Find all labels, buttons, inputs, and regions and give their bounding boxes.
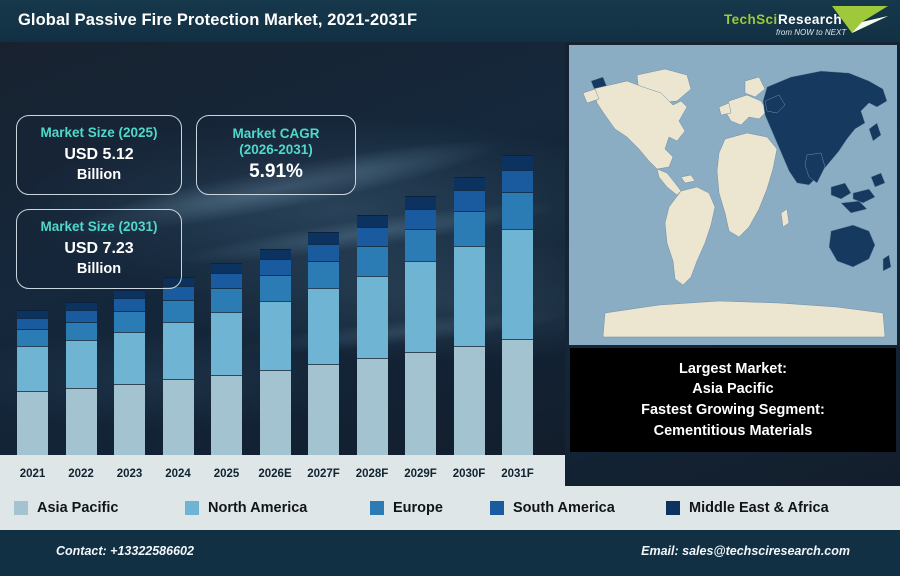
bar-segment-south-america — [502, 170, 533, 192]
bar-segment-north-america — [454, 246, 485, 346]
market-cagr-value: 5.91% — [249, 161, 303, 184]
bar-2023 — [114, 290, 145, 455]
bar-segment-south-america — [357, 227, 388, 245]
market-cagr-label: Market CAGR — [232, 126, 319, 142]
bar-segment-europe — [502, 192, 533, 229]
x-axis-labels: 202120222023202420252026E2027F2028F2029F… — [0, 455, 565, 486]
bar-segment-middle-east-africa — [357, 215, 388, 227]
bar-2028F — [357, 215, 388, 455]
bar-segment-south-america — [260, 259, 291, 275]
email-text: Email: sales@techsciresearch.com — [641, 544, 850, 558]
header-bar: Global Passive Fire Protection Market, 2… — [0, 0, 900, 42]
bar-segment-europe — [260, 275, 291, 301]
infographic-page: Global Passive Fire Protection Market, 2… — [0, 0, 900, 576]
market-size-2031-value: USD 7.23 — [64, 239, 133, 259]
bar-segment-asia-pacific — [405, 352, 436, 455]
bar-segment-north-america — [502, 229, 533, 338]
bar-segment-asia-pacific — [454, 346, 485, 455]
bar-2027F — [308, 232, 339, 455]
bar-segment-north-america — [211, 312, 242, 375]
svg-text:from NOW to NEXT: from NOW to NEXT — [776, 28, 847, 37]
bar-2022 — [66, 302, 97, 455]
right-panel: Largest Market: Asia Pacific Fastest Gro… — [565, 42, 900, 486]
bar-segment-europe — [454, 211, 485, 246]
callout-line-3: Fastest Growing Segment: — [641, 400, 825, 421]
chart-panel: 202120222023202420252026E2027F2028F2029F… — [0, 42, 565, 486]
bar-2021 — [17, 310, 48, 455]
bar-segment-europe — [211, 288, 242, 312]
bar-segment-middle-east-africa — [308, 232, 339, 243]
market-cagr-period: (2026-2031) — [239, 142, 313, 158]
bar-segment-south-america — [308, 244, 339, 261]
legend-item-north-america[interactable]: North America — [185, 500, 307, 516]
legend-swatch — [185, 501, 199, 515]
bar-2024 — [163, 277, 194, 455]
bar-segment-middle-east-africa — [454, 177, 485, 191]
bar-segment-south-america — [17, 318, 48, 329]
bar-segment-europe — [66, 322, 97, 341]
bar-segment-south-america — [454, 190, 485, 211]
market-size-2031-unit: Billion — [77, 261, 121, 278]
bar-2025 — [211, 263, 242, 455]
bar-segment-north-america — [17, 346, 48, 390]
legend-swatch — [14, 501, 28, 515]
bar-segment-asia-pacific — [502, 339, 533, 455]
bar-segment-asia-pacific — [17, 391, 48, 455]
bar-segment-middle-east-africa — [66, 302, 97, 310]
legend-label: South America — [513, 500, 615, 516]
bar-segment-europe — [17, 329, 48, 346]
bar-segment-north-america — [308, 288, 339, 364]
bar-2026E — [260, 249, 291, 455]
legend-item-middle-east-africa[interactable]: Middle East & Africa — [666, 500, 829, 516]
legend-item-asia-pacific[interactable]: Asia Pacific — [14, 500, 118, 516]
callout-line-1: Largest Market: — [679, 359, 787, 380]
legend-item-south-america[interactable]: South America — [490, 500, 615, 516]
bar-segment-middle-east-africa — [405, 196, 436, 209]
legend-label: Asia Pacific — [37, 500, 118, 516]
footer-bar: Contact: +13322586602 Email: sales@techs… — [0, 530, 900, 576]
bar-segment-middle-east-africa — [211, 263, 242, 273]
bar-segment-south-america — [211, 273, 242, 288]
legend-item-europe[interactable]: Europe — [370, 500, 443, 516]
callout-line-4: Cementitious Materials — [654, 421, 813, 442]
bar-segment-europe — [405, 229, 436, 261]
legend-swatch — [666, 501, 680, 515]
legend-swatch — [490, 501, 504, 515]
legend-swatch — [370, 501, 384, 515]
bar-segment-europe — [308, 261, 339, 289]
bar-segment-middle-east-africa — [260, 249, 291, 260]
bar-segment-south-america — [114, 298, 145, 311]
bar-segment-asia-pacific — [66, 388, 97, 455]
market-size-2031-label: Market Size (2031) — [40, 219, 157, 235]
legend-label: Europe — [393, 500, 443, 516]
bar-segment-asia-pacific — [211, 375, 242, 455]
legend-label: North America — [208, 500, 307, 516]
bar-2031F — [502, 155, 533, 455]
bar-segment-asia-pacific — [357, 358, 388, 455]
contact-text: Contact: +13322586602 — [56, 544, 194, 558]
bar-segment-middle-east-africa — [114, 290, 145, 299]
bar-2029F — [405, 196, 436, 455]
bar-segment-asia-pacific — [163, 379, 194, 455]
svg-text:Research: Research — [778, 12, 842, 27]
market-size-2025-label: Market Size (2025) — [40, 125, 157, 141]
market-size-2025-value: USD 5.12 — [64, 145, 133, 165]
bar-segment-south-america — [66, 310, 97, 322]
bar-segment-north-america — [405, 261, 436, 352]
market-size-2025-box: Market Size (2025) USD 5.12 Billion — [16, 115, 182, 195]
bar-segment-south-america — [405, 209, 436, 228]
callout-line-2: Asia Pacific — [692, 379, 773, 400]
bar-segment-europe — [163, 300, 194, 322]
bar-segment-asia-pacific — [114, 384, 145, 455]
bar-segment-north-america — [163, 322, 194, 379]
bar-segment-north-america — [114, 332, 145, 384]
bar-segment-middle-east-africa — [502, 155, 533, 170]
svg-text:TechSci: TechSci — [724, 12, 778, 27]
bar-segment-north-america — [260, 301, 291, 370]
bar-2030F — [454, 177, 485, 455]
bar-segment-europe — [357, 246, 388, 276]
bar-segment-north-america — [66, 340, 97, 388]
bar-segment-asia-pacific — [308, 364, 339, 455]
page-title: Global Passive Fire Protection Market, 2… — [18, 11, 417, 30]
market-cagr-box: Market CAGR (2026-2031) 5.91% — [196, 115, 356, 195]
market-size-2025-unit: Billion — [77, 167, 121, 184]
bar-segment-asia-pacific — [260, 370, 291, 455]
world-map — [569, 45, 897, 345]
market-size-2031-box: Market Size (2031) USD 7.23 Billion — [16, 209, 182, 289]
largest-market-callout: Largest Market: Asia Pacific Fastest Gro… — [570, 348, 896, 452]
chart-legend: Asia PacificNorth AmericaEuropeSouth Ame… — [0, 486, 900, 530]
legend-label: Middle East & Africa — [689, 500, 829, 516]
techsci-research-logo: TechSci Research from NOW to NEXT — [712, 2, 892, 42]
bar-segment-north-america — [357, 276, 388, 359]
bar-segment-middle-east-africa — [17, 310, 48, 317]
bar-segment-europe — [114, 311, 145, 331]
x-axis-label-2031F: 2031F — [489, 468, 547, 480]
